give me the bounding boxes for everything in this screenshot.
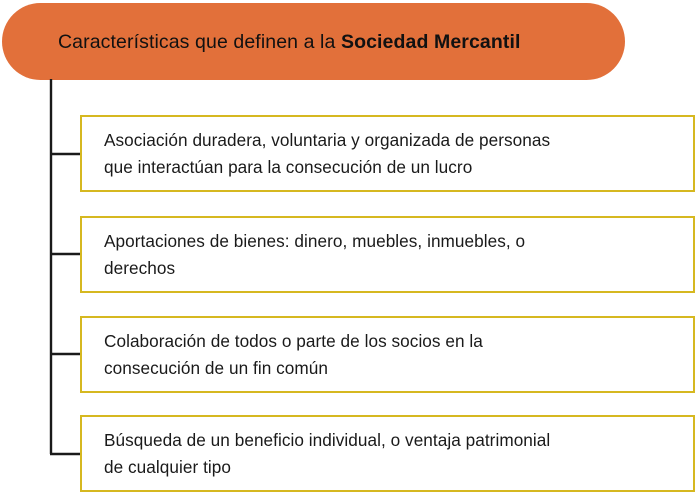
characteristic-box-2: Aportaciones de bienes: dinero, muebles,…	[80, 216, 695, 293]
header-title-prefix: Características que definen a la	[58, 31, 341, 53]
diagram-canvas: Características que definen a la Socieda…	[0, 0, 700, 497]
characteristic-text-4-line-1: Búsqueda de un beneficio individual, o v…	[104, 430, 550, 450]
characteristic-box-1: Asociación duradera, voluntaria y organi…	[80, 115, 695, 192]
characteristic-box-4: Búsqueda de un beneficio individual, o v…	[80, 415, 695, 492]
characteristic-text-1-line-2: que interactúan para la consecución de u…	[104, 157, 472, 177]
characteristic-text-2: Aportaciones de bienes: dinero, muebles,…	[82, 228, 535, 282]
header-title: Características que definen a la Socieda…	[2, 30, 541, 54]
header-title-emphasis: Sociedad Mercantil	[341, 31, 521, 53]
characteristic-text-2-line-1: Aportaciones de bienes: dinero, muebles,…	[104, 231, 525, 251]
characteristic-text-3-line-1: Colaboración de todos o parte de los soc…	[104, 331, 483, 351]
characteristic-text-4: Búsqueda de un beneficio individual, o v…	[82, 427, 560, 481]
diagram-header-node: Características que definen a la Socieda…	[2, 3, 625, 80]
characteristic-text-3: Colaboración de todos o parte de los soc…	[82, 328, 493, 382]
characteristic-text-1: Asociación duradera, voluntaria y organi…	[82, 127, 560, 181]
characteristic-text-2-line-2: derechos	[104, 258, 175, 278]
characteristic-text-3-line-2: consecución de un fin común	[104, 358, 328, 378]
characteristic-box-3: Colaboración de todos o parte de los soc…	[80, 316, 695, 393]
characteristic-text-4-line-2: de cualquier tipo	[104, 457, 231, 477]
characteristic-text-1-line-1: Asociación duradera, voluntaria y organi…	[104, 130, 550, 150]
